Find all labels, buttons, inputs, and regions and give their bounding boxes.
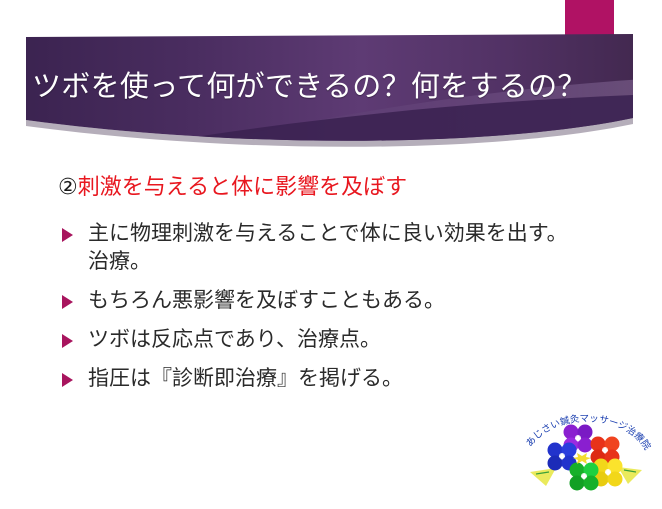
triangle-bullet-icon: [62, 373, 73, 387]
list-item-label: ツボは反応点であり、治療点。: [88, 326, 658, 354]
list-item-label: もちろん悪影響を及ぼすこともある。: [88, 287, 658, 315]
section-heading-number: ②: [58, 174, 78, 199]
section-heading-text: 刺激を与えると体に影響を及ぼす: [78, 174, 407, 199]
title-banner: ツボを使って何ができるの？何をするの？: [0, 0, 662, 160]
section-heading: ②刺激を与えると体に影響を及ぼす: [58, 172, 407, 202]
list-item: もちろん悪影響を及ぼすこともある。: [58, 287, 658, 315]
bullet-list: 主に物理刺激を与えることで体に良い効果を出す。 治療。 もちろん悪影響を及ぼすこ…: [58, 220, 658, 404]
flower-cluster-icon: [548, 425, 623, 491]
list-item: 主に物理刺激を与えることで体に良い効果を出す。 治療。: [58, 220, 658, 276]
triangle-bullet-icon: [62, 334, 73, 348]
leaf-icon: [530, 468, 556, 486]
page-title: ツボを使って何ができるの？何をするの？: [32, 68, 632, 106]
triangle-bullet-icon: [62, 228, 73, 242]
clinic-logo: あじさい鍼灸マッサージ治療院: [516, 408, 656, 504]
list-item-label: 主に物理刺激を与えることで体に良い効果を出す。 治療。: [88, 220, 658, 276]
slide-canvas: ツボを使って何ができるの？何をするの？ ②刺激を与えると体に影響を及ぼす 主に物…: [0, 0, 662, 509]
triangle-bullet-icon: [62, 295, 73, 309]
list-item: 指圧は『診断即治療』を掲げる。: [58, 365, 658, 393]
list-item: ツボは反応点であり、治療点。: [58, 326, 658, 354]
list-item-label: 指圧は『診断即治療』を掲げる。: [88, 365, 658, 393]
